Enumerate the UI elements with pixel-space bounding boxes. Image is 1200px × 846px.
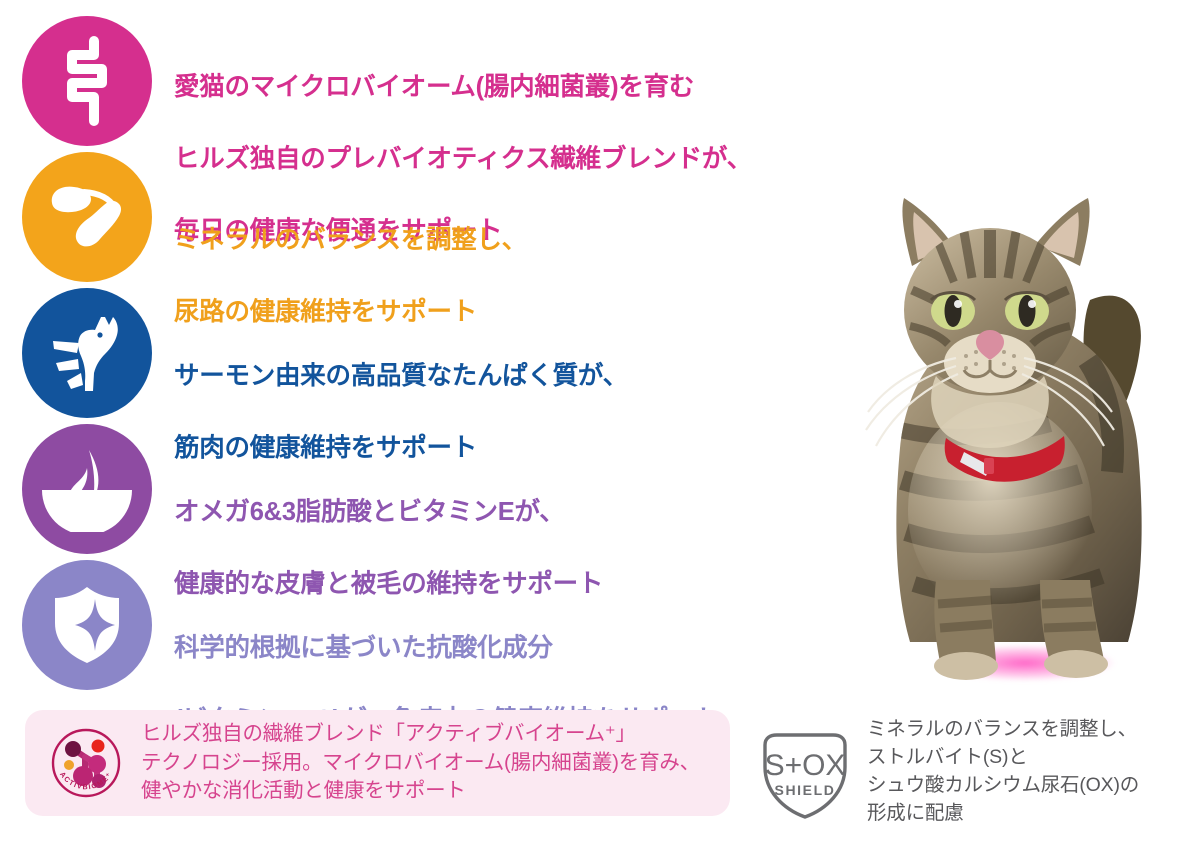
cat-muscle-icon-circle [22,288,152,418]
benefit-line: 科学的根拠に基づいた抗酸化成分 [174,630,719,666]
sox-line: ストルバイト(S)と [867,743,1139,771]
activbiome-line: 健やかな消化活動と健康をサポート [141,777,700,806]
tabby-cat-photo [840,180,1195,690]
benefit-line: 愛猫のマイクロバイオーム(腸内細菌叢)を育む [174,69,752,105]
sox-line: シュウ酸カルシウム尿石(OX)の [867,771,1139,799]
activbiome-panel: ACTIVBIOME⁺ ヒルズ独自の繊維ブレンド「アクティブバイオーム⁺」 テク… [25,710,730,816]
activbiome-line: ヒルズ独自の繊維ブレンド「アクティブバイオーム⁺」 [141,720,700,749]
cat-muscle-icon [43,311,131,395]
sox-description: ミネラルのバランスを調整し、 ストルバイト(S)と シュウ酸カルシウム尿石(OX… [867,715,1139,827]
shield-immunity-icon-circle [22,560,152,690]
sox-logo-sub: SHIELD [775,782,836,798]
hair-follicle-skin-icon [40,446,134,532]
product-benefits-infographic: 愛猫のマイクロバイオーム(腸内細菌叢)を育む ヒルズ独自のプレバイオティクス繊維… [0,0,1200,846]
sox-shield-block: S+OX SHIELD ミネラルのバランスを調整し、 ストルバイト(S)と シュ… [755,715,1139,827]
sox-logo-main: S+OX [765,749,846,782]
s-plus-ox-shield-logo: S+OX SHIELD [755,729,855,821]
sox-line: 形成に配慮 [867,799,1139,827]
hair-follicle-skin-icon-circle [22,424,152,554]
activbiome-description: ヒルズ独自の繊維ブレンド「アクティブバイオーム⁺」 テクノロジー採用。マイクロバ… [141,720,700,806]
benefit-line: サーモン由来の高品質なたんぱく質が、 [174,358,628,394]
intestine-gut-icon-circle [22,16,152,146]
intestine-gut-icon [50,35,124,127]
sox-line: ミネラルのバランスを調整し、 [867,715,1139,743]
shield-immunity-icon [51,585,123,665]
kidney-bladder-icon [44,177,130,257]
benefit-line: ミネラルのバランスを調整し、 [174,222,527,258]
activbiome-line: テクノロジー採用。マイクロバイオーム(腸内細菌叢)を育み、 [141,749,700,778]
activbiome-logo: ACTIVBIOME⁺ [47,724,125,802]
benefit-line: オメガ6&3脂肪酸とビタミンEが、 [174,494,603,530]
kidney-bladder-icon-circle [22,152,152,282]
